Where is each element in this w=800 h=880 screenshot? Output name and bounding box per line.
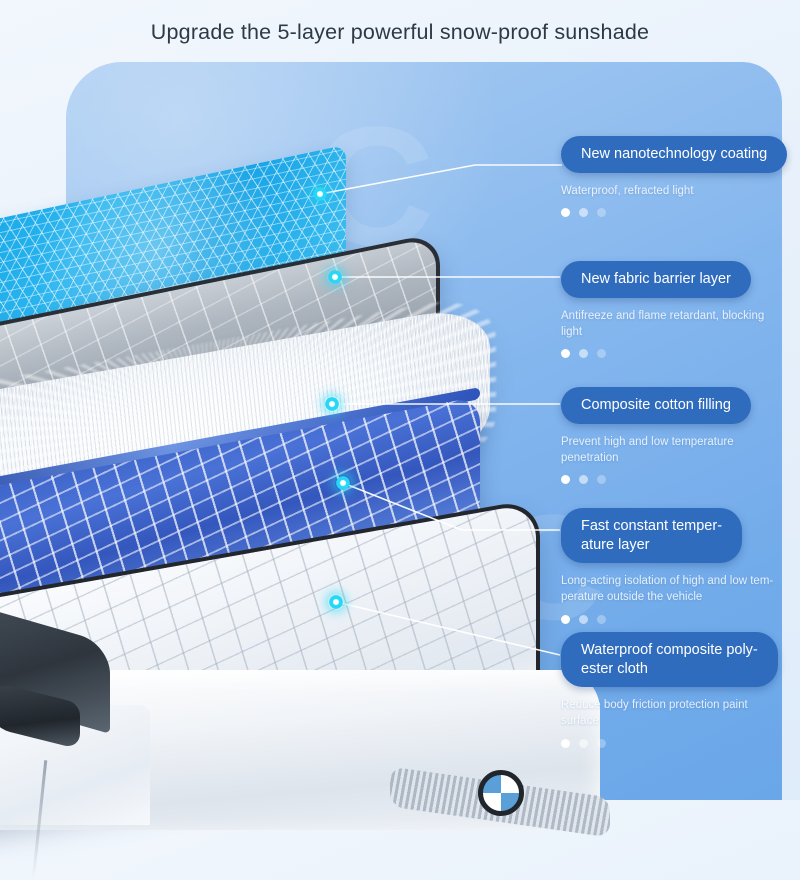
callout-4-label[interactable]: Fast constant temper- ature layer xyxy=(561,508,742,563)
hotspot-layer-2[interactable] xyxy=(327,269,343,285)
callout-3-dots xyxy=(561,475,751,484)
callout-1-label[interactable]: New nanotechnology coating xyxy=(561,136,787,173)
callout-3-description: Prevent high and low temperature penetra… xyxy=(561,434,751,467)
dot-indicator-2[interactable] xyxy=(579,475,588,484)
callout-5: Waterproof composite poly- ester cloth R… xyxy=(561,632,778,748)
dot-indicator-2[interactable] xyxy=(579,739,588,748)
infographic-root: Upgrade the 5-layer powerful snow-proof … xyxy=(0,0,800,800)
callout-5-dots xyxy=(561,739,778,748)
callout-1-dots xyxy=(561,208,787,217)
hotspot-layer-1[interactable] xyxy=(312,186,328,202)
dot-indicator-active[interactable] xyxy=(561,739,570,748)
dot-indicator-3[interactable] xyxy=(597,739,606,748)
dot-indicator-active[interactable] xyxy=(561,475,570,484)
callout-5-label[interactable]: Waterproof composite poly- ester cloth xyxy=(561,632,778,687)
callout-4-dots xyxy=(561,615,773,624)
callout-2-dots xyxy=(561,349,764,358)
dot-indicator-2[interactable] xyxy=(579,349,588,358)
callout-3-label[interactable]: Composite cotton filling xyxy=(561,387,751,424)
dot-indicator-3[interactable] xyxy=(597,475,606,484)
callout-2-description: Antifreeze and flame retardant, blocking… xyxy=(561,308,764,341)
dot-indicator-2[interactable] xyxy=(579,208,588,217)
dot-indicator-active[interactable] xyxy=(561,208,570,217)
dot-indicator-3[interactable] xyxy=(597,615,606,624)
callout-4: Fast constant temper- ature layer Long-a… xyxy=(561,508,773,624)
dot-indicator-3[interactable] xyxy=(597,349,606,358)
callout-2-label[interactable]: New fabric barrier layer xyxy=(561,261,751,298)
callout-3: Composite cotton filling Prevent high an… xyxy=(561,387,751,484)
dot-indicator-2[interactable] xyxy=(579,615,588,624)
dot-indicator-active[interactable] xyxy=(561,615,570,624)
car-emblem xyxy=(478,770,524,816)
dot-indicator-active[interactable] xyxy=(561,349,570,358)
callout-4-description: Long-acting isolation of high and low te… xyxy=(561,573,773,606)
callout-2: New fabric barrier layer Antifreeze and … xyxy=(561,261,764,358)
callout-5-description: Reduce body friction protection paint su… xyxy=(561,697,778,730)
hotspot-layer-4[interactable] xyxy=(335,475,351,491)
callout-1-description: Waterproof, refracted light xyxy=(561,183,787,199)
hotspot-layer-5[interactable] xyxy=(328,594,344,610)
callout-1: New nanotechnology coating Waterproof, r… xyxy=(561,136,787,217)
hotspot-layer-3[interactable] xyxy=(324,396,340,412)
dot-indicator-3[interactable] xyxy=(597,208,606,217)
